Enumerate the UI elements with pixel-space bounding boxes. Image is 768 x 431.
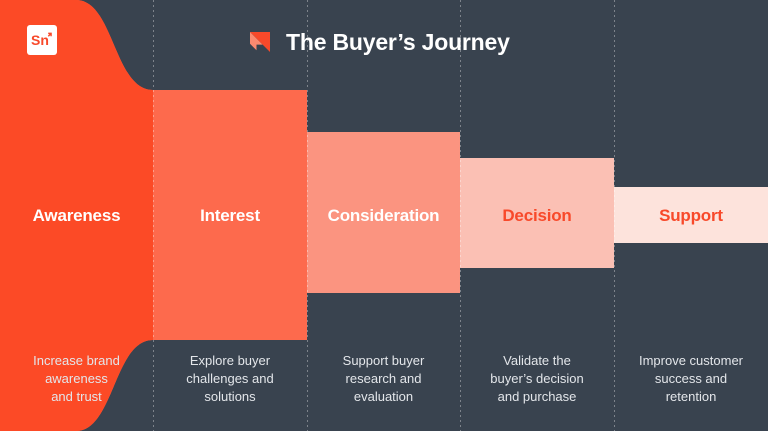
sn-logo-glyph: Sn xyxy=(30,28,54,52)
stage-description-interest: Explore buyer challenges and solutions xyxy=(153,352,307,406)
description-line: research and xyxy=(307,370,460,388)
description-line: evaluation xyxy=(307,388,460,406)
stage-description-support: Improve customer success and retention xyxy=(614,352,768,406)
description-line: Explore buyer xyxy=(153,352,307,370)
description-line: retention xyxy=(614,388,768,406)
stage-description-decision: Validate the buyer’s decision and purcha… xyxy=(460,352,614,406)
infographic-canvas: Sn The Buyer’s Journey Awareness Interes… xyxy=(0,0,768,431)
description-line: Increase brand xyxy=(0,352,153,370)
description-line: awareness xyxy=(0,370,153,388)
sn-logo-icon[interactable]: Sn xyxy=(27,25,57,55)
description-line: and purchase xyxy=(460,388,614,406)
page-title: The Buyer’s Journey xyxy=(286,31,510,54)
stage-label-interest[interactable]: Interest xyxy=(153,204,307,228)
stage-label-awareness[interactable]: Awareness xyxy=(0,204,153,228)
title-block: The Buyer’s Journey xyxy=(248,25,510,59)
description-line: solutions xyxy=(153,388,307,406)
stage-description-consideration: Support buyer research and evaluation xyxy=(307,352,460,406)
description-line: buyer’s decision xyxy=(460,370,614,388)
stage-label-decision[interactable]: Decision xyxy=(460,204,614,228)
description-line: Improve customer xyxy=(614,352,768,370)
description-line: Validate the xyxy=(460,352,614,370)
stage-label-support[interactable]: Support xyxy=(614,204,768,228)
description-line: success and xyxy=(614,370,768,388)
stage-label-consideration[interactable]: Consideration xyxy=(307,204,460,228)
description-line: challenges and xyxy=(153,370,307,388)
description-line: and trust xyxy=(0,388,153,406)
svg-text:Sn: Sn xyxy=(31,32,49,48)
stage-description-awareness: Increase brand awareness and trust xyxy=(0,352,153,406)
orange-arrow-mark-icon xyxy=(248,30,272,54)
description-line: Support buyer xyxy=(307,352,460,370)
